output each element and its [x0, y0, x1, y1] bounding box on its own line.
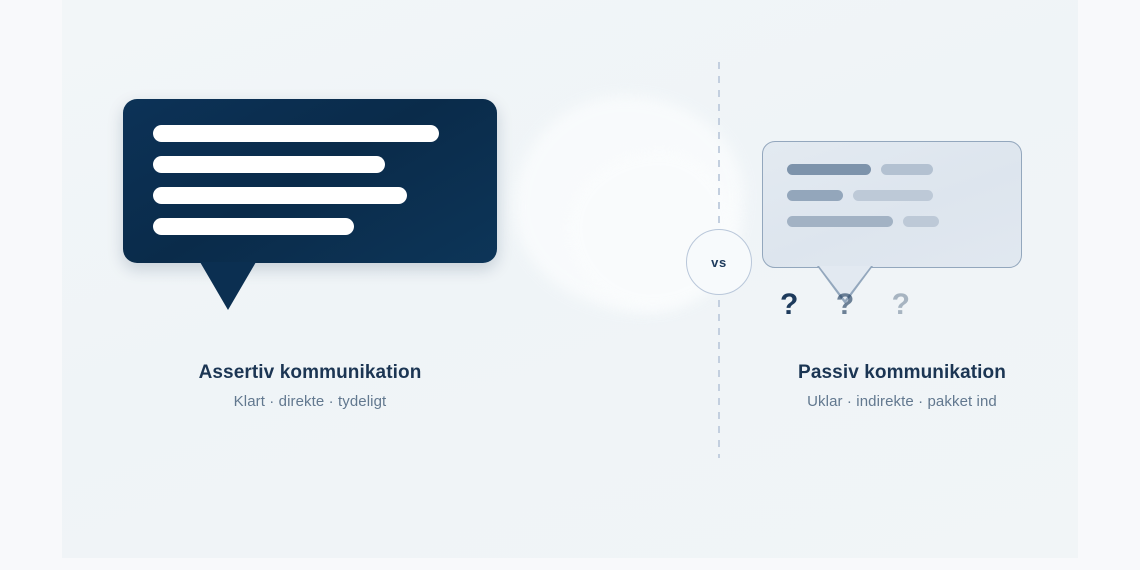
- passive-text-bar: [787, 190, 843, 201]
- assertive-subtitle: Klart · direkte · tydeligt: [110, 393, 510, 410]
- question-mark-icon: ?: [892, 288, 910, 322]
- assertive-caption: Assertiv kommunikation Klart · direkte ·…: [110, 362, 510, 410]
- question-mark-icon: ?: [780, 288, 798, 322]
- assertive-text-bar: [153, 156, 385, 173]
- assertive-text-bar: [153, 187, 407, 204]
- passive-text-bar: [787, 216, 893, 227]
- passive-speech-bubble: [762, 141, 1022, 268]
- assertive-text-bar: [153, 125, 439, 142]
- vs-badge: vs: [686, 229, 752, 295]
- passive-text-bar: [853, 190, 933, 201]
- passive-text-row: [787, 164, 997, 175]
- question-mark-icon: ?: [836, 288, 854, 322]
- passive-caption: Passiv kommunikation Uklar · indirekte ·…: [700, 362, 1104, 410]
- assertive-speech-bubble: [123, 99, 497, 263]
- passive-text-bar: [787, 164, 871, 175]
- passive-text-row: [787, 216, 997, 227]
- assertive-text-bar: [153, 218, 354, 235]
- assertive-title: Assertiv kommunikation: [110, 362, 510, 384]
- comparison-graphic: Assertiv kommunikation Klart · direkte ·…: [0, 0, 1140, 570]
- question-marks-group: ? ? ?: [780, 288, 910, 322]
- passive-subtitle: Uklar · indirekte · pakket ind: [700, 393, 1104, 410]
- passive-text-bar: [903, 216, 939, 227]
- passive-title: Passiv kommunikation: [700, 362, 1104, 384]
- assertive-bubble-tail-icon: [200, 262, 256, 310]
- vs-label: vs: [711, 255, 727, 270]
- passive-text-bar: [881, 164, 933, 175]
- passive-text-row: [787, 190, 997, 201]
